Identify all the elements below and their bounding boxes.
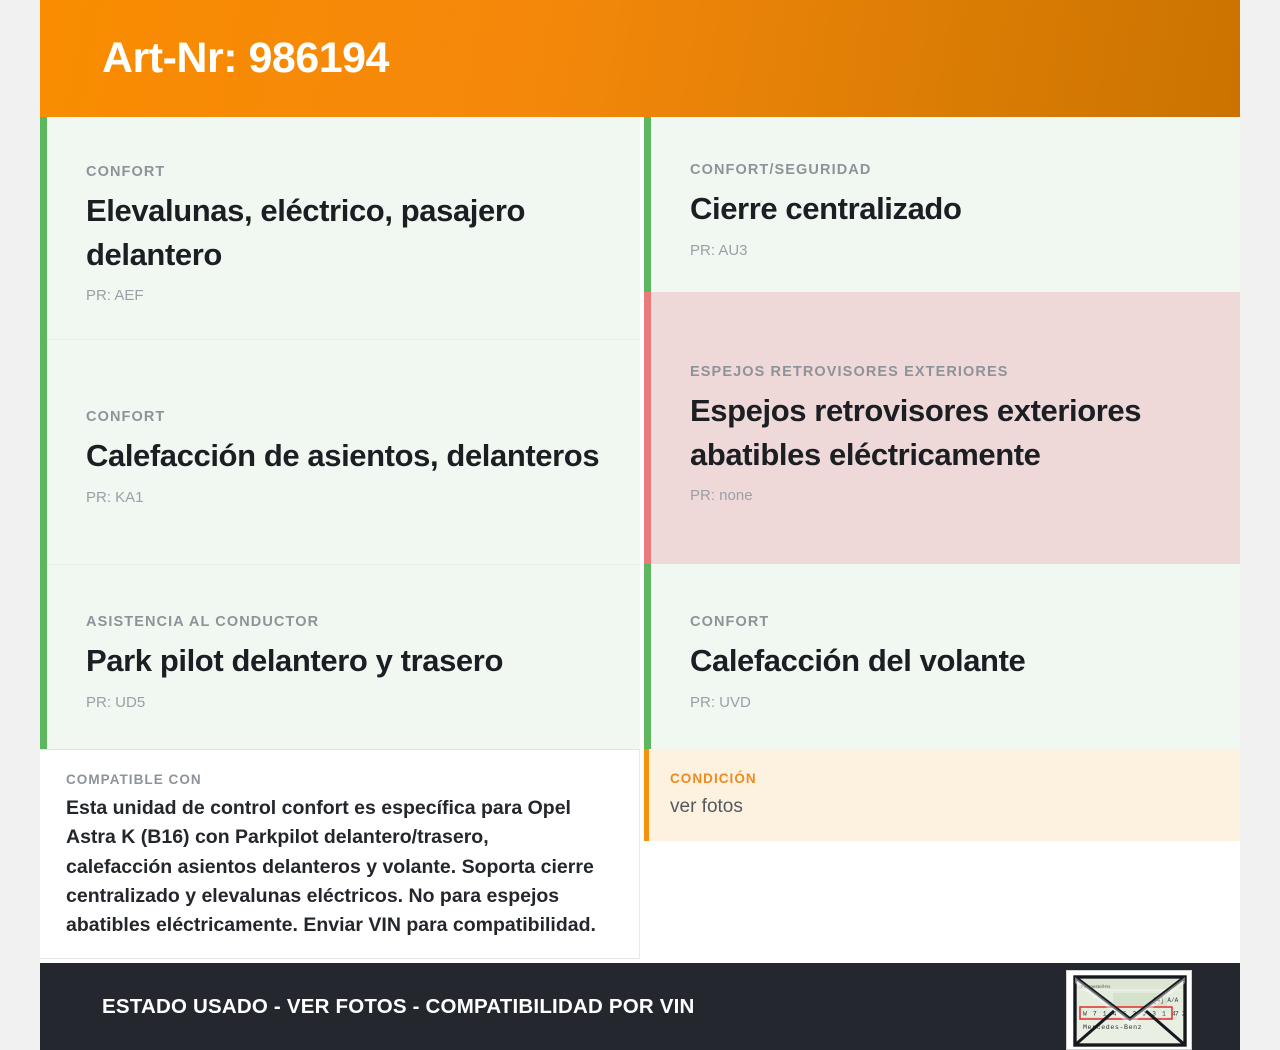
feature-title: Cierre centralizado	[690, 187, 1230, 231]
feature-category: ESPEJOS RETROVISORES EXTERIORES	[690, 364, 1240, 380]
condition-block: CONDICIÓN ver fotos	[644, 749, 1240, 841]
feature-card[interactable]: ASISTENCIA AL CONDUCTOR Park pilot delan…	[40, 564, 640, 749]
status-accent-bar	[644, 117, 651, 292]
compatibility-text: Esta unidad de control confort es especí…	[66, 794, 596, 940]
compatibility-label: COMPATIBLE CON	[66, 772, 609, 787]
envelope-vin-document-icon: Fahrgestell-Nr. W 7 1 4 6 3 J 3 1 4 2 7 …	[1067, 971, 1192, 1050]
status-accent-bar	[40, 339, 47, 564]
feature-category: CONFORT/SEGURIDAD	[690, 162, 1240, 178]
status-accent-bar	[40, 564, 47, 749]
condition-label: CONDICIÓN	[670, 771, 1210, 786]
feature-card[interactable]: CONFORT Calefacción de asientos, delante…	[40, 339, 640, 564]
feature-card-unavailable[interactable]: ESPEJOS RETROVISORES EXTERIORES Espejos …	[644, 292, 1240, 564]
footer-bar: ESTADO USADO - VER FOTOS - COMPATIBILIDA…	[40, 963, 1240, 1050]
feature-card[interactable]: CONFORT Elevalunas, eléctrico, pasajero …	[40, 117, 640, 339]
condition-filler	[644, 841, 1240, 960]
features-grid: CONFORT Elevalunas, eléctrico, pasajero …	[40, 117, 1240, 963]
feature-title: Espejos retrovisores exteriores abatible…	[690, 389, 1230, 477]
feature-category: CONFORT	[86, 409, 640, 425]
page-title: Art-Nr: 986194	[102, 37, 389, 80]
product-info-sheet: Art-Nr: 986194 CONFORT Elevalunas, eléct…	[40, 0, 1240, 1050]
feature-card[interactable]: CONFORT/SEGURIDAD Cierre centralizado PR…	[644, 117, 1240, 292]
features-column-right: CONFORT/SEGURIDAD Cierre centralizado PR…	[644, 117, 1240, 963]
feature-pr-code: PR: KA1	[86, 489, 640, 506]
feature-pr-code: PR: none	[690, 487, 1240, 504]
feature-category: CONFORT	[690, 614, 1240, 630]
feature-title: Calefacción del volante	[690, 639, 1230, 683]
condition-value: ver fotos	[670, 793, 1200, 822]
header-bar: Art-Nr: 986194	[40, 0, 1240, 117]
feature-title: Calefacción de asientos, delanteros	[86, 434, 626, 478]
feature-title: Park pilot delantero y trasero	[86, 639, 626, 683]
feature-pr-code: PR: UVD	[690, 694, 1240, 711]
svg-text:7: 7	[1175, 1011, 1179, 1018]
feature-title: Elevalunas, eléctrico, pasajero delanter…	[86, 189, 626, 277]
feature-category: CONFORT	[86, 164, 640, 180]
status-accent-bar	[644, 292, 651, 564]
feature-category: ASISTENCIA AL CONDUCTOR	[86, 614, 640, 630]
feature-pr-code: PR: AU3	[690, 242, 1240, 259]
footer-notice: ESTADO USADO - VER FOTOS - COMPATIBILIDA…	[102, 995, 695, 1019]
feature-card[interactable]: CONFORT Calefacción del volante PR: UVD	[644, 564, 1240, 749]
vin-envelope-badge[interactable]: Fahrgestell-Nr. W 7 1 4 6 3 J 3 1 4 2 7 …	[1066, 970, 1192, 1050]
condition-accent-bar	[644, 749, 649, 841]
compatibility-block: COMPATIBLE CON Esta unidad de control co…	[40, 749, 640, 959]
feature-pr-code: PR: UD5	[86, 694, 640, 711]
features-column-left: CONFORT Elevalunas, eléctrico, pasajero …	[40, 117, 640, 963]
status-accent-bar	[644, 564, 651, 749]
feature-pr-code: PR: AEF	[86, 287, 640, 304]
status-accent-bar	[40, 117, 47, 339]
